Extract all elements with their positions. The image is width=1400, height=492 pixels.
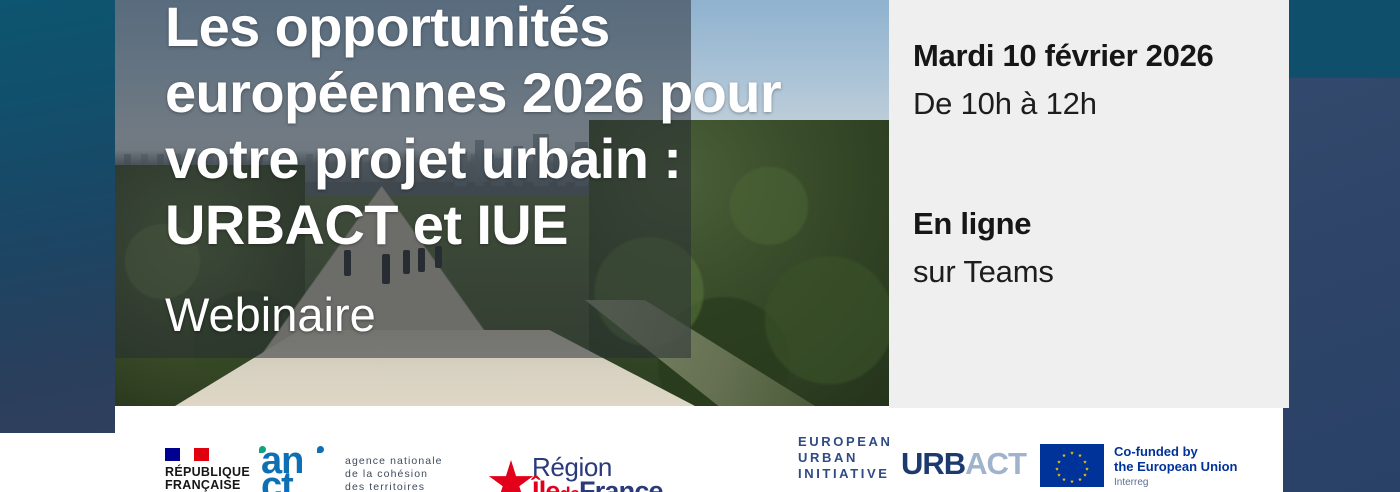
- background-left-bottom: [0, 433, 115, 492]
- background-left-gradient: [0, 0, 115, 433]
- anct-words-line-3: des territoires: [345, 481, 443, 492]
- rf-line-2: FRANÇAISE: [165, 479, 261, 492]
- french-flag-icon: [165, 448, 209, 461]
- page-title: Les opportunités européennes 2026 pour v…: [165, 0, 885, 258]
- event-date: Mardi 10 février 2026: [913, 38, 1283, 74]
- republique-francaise-logo: RÉPUBLIQUE FRANÇAISE Liberté: [165, 448, 261, 492]
- anct-words-line-1: agence nationale: [345, 455, 443, 468]
- background-right-top-band: [1283, 0, 1400, 78]
- eu-cofunding-logo: Co-funded by the European Union Interreg: [1040, 444, 1290, 488]
- event-mode: En ligne: [913, 206, 1283, 242]
- urbact-part-dark: URB: [901, 446, 965, 481]
- eu-cofunding-wordmark: Co-funded by the European Union Interreg: [1114, 444, 1238, 488]
- partner-logo-strip: RÉPUBLIQUE FRANÇAISE Liberté an ct agenc…: [115, 408, 1283, 492]
- anct-quote-right-icon: [317, 446, 324, 453]
- event-format-label: Webinaire: [165, 287, 376, 343]
- anct-monogram: an ct: [261, 449, 303, 492]
- idf-de: de: [560, 484, 579, 492]
- eu-line-2: the European Union: [1114, 459, 1238, 474]
- event-time: De 10h à 12h: [913, 86, 1283, 122]
- eu-programme-name: Interreg: [1114, 477, 1238, 488]
- event-info-panel: Mardi 10 février 2026 De 10h à 12h En li…: [889, 0, 1283, 408]
- eu-line-1: Co-funded by: [1114, 444, 1238, 459]
- event-card: Les opportunités européennes 2026 pour v…: [115, 0, 1283, 492]
- idf-star-icon: [488, 460, 534, 492]
- idf-france: France: [579, 476, 663, 492]
- background-right-panel: [1283, 78, 1400, 492]
- republique-francaise-wordmark: RÉPUBLIQUE FRANÇAISE: [165, 466, 261, 492]
- urbact-part-light: ACT: [965, 446, 1026, 481]
- anct-wordmark: agence nationale de la cohésion des terr…: [345, 455, 443, 492]
- eu-flag-icon: [1040, 444, 1104, 487]
- idf-ile-de-france-word: ÎledeFrance: [532, 476, 663, 492]
- idf-ile: Île: [532, 476, 560, 492]
- background-right-gutter: [1283, 0, 1289, 408]
- region-ile-de-france-logo: Région ÎledeFrance: [488, 450, 698, 492]
- urbact-logo: URBACT: [901, 446, 1027, 478]
- anct-quote-left-icon: [259, 446, 266, 453]
- event-platform: sur Teams: [913, 254, 1283, 290]
- anct-words-line-2: de la cohésion: [345, 468, 443, 481]
